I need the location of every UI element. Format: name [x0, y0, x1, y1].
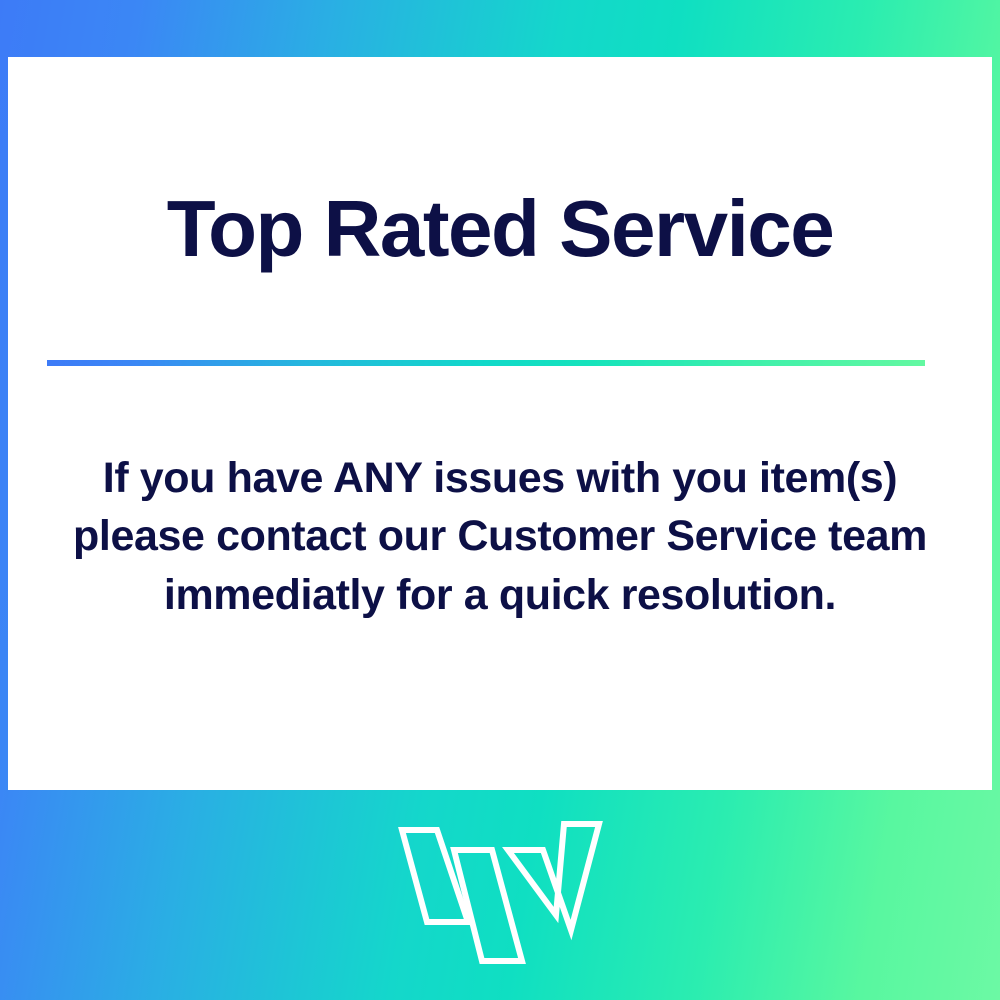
- brand-logo: [393, 818, 607, 968]
- body-message: If you have ANY issues with you item(s) …: [34, 449, 966, 624]
- promo-banner: Top Rated Service If you have ANY issues…: [0, 0, 1000, 1000]
- page-title: Top Rated Service: [8, 189, 992, 269]
- w-monogram-icon: [393, 818, 607, 968]
- content-card: Top Rated Service If you have ANY issues…: [8, 57, 992, 790]
- gradient-divider: [47, 360, 925, 366]
